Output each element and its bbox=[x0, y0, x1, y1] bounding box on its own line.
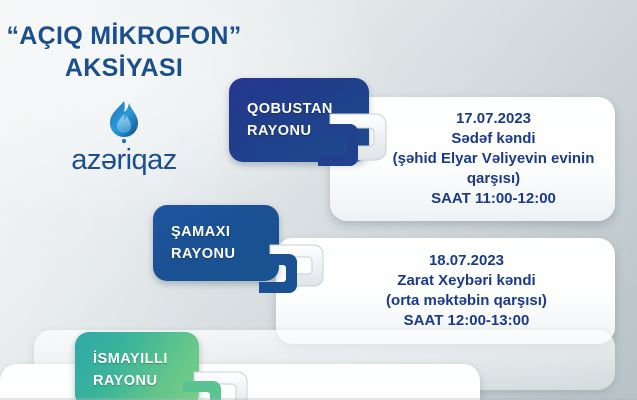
brand-logo: azəriqaz bbox=[0, 100, 248, 175]
event-card-2-text: 18.07.2023 Zarat Xeybəri kəndi (orta mək… bbox=[334, 251, 557, 331]
title-line-2: AKSİYASI bbox=[0, 52, 248, 84]
event-card-3[interactable]: 20.07.2023 bbox=[0, 364, 480, 400]
district-pill-qobustan-line2: RAYONU bbox=[247, 120, 369, 142]
district-pill-ismayilli[interactable]: İSMAYILLI RAYONU bbox=[75, 332, 199, 400]
brand-name: azəriqaz bbox=[0, 146, 248, 175]
district-pill-ismayilli-line2: RAYONU bbox=[93, 370, 199, 392]
title-line-1: “AÇIQ MİKROFON” bbox=[0, 20, 248, 52]
poster-canvas: “AÇIQ MİKROFON” AKSİYASI bbox=[0, 0, 637, 400]
flame-icon bbox=[105, 100, 143, 144]
page-title: “AÇIQ MİKROFON” AKSİYASI bbox=[0, 20, 248, 84]
event-card-1[interactable]: 17.07.2023 Sədəf kəndi (şəhid Elyar Vəli… bbox=[330, 97, 615, 221]
district-pill-samaxi[interactable]: ŞAMAXI RAYONU bbox=[153, 205, 279, 281]
event-card-1-text: 17.07.2023 Sədəf kəndi (şəhid Elyar Vəli… bbox=[341, 109, 605, 209]
district-pill-samaxi-line1: ŞAMAXI bbox=[171, 221, 279, 243]
district-pill-ismayilli-line1: İSMAYILLI bbox=[93, 348, 199, 370]
district-pill-samaxi-line2: RAYONU bbox=[171, 243, 279, 265]
district-pill-qobustan-line1: QOBUSTAN bbox=[247, 98, 369, 120]
event-card-2[interactable]: 18.07.2023 Zarat Xeybəri kəndi (orta mək… bbox=[276, 238, 615, 344]
district-pill-qobustan[interactable]: QOBUSTAN RAYONU bbox=[229, 78, 369, 162]
